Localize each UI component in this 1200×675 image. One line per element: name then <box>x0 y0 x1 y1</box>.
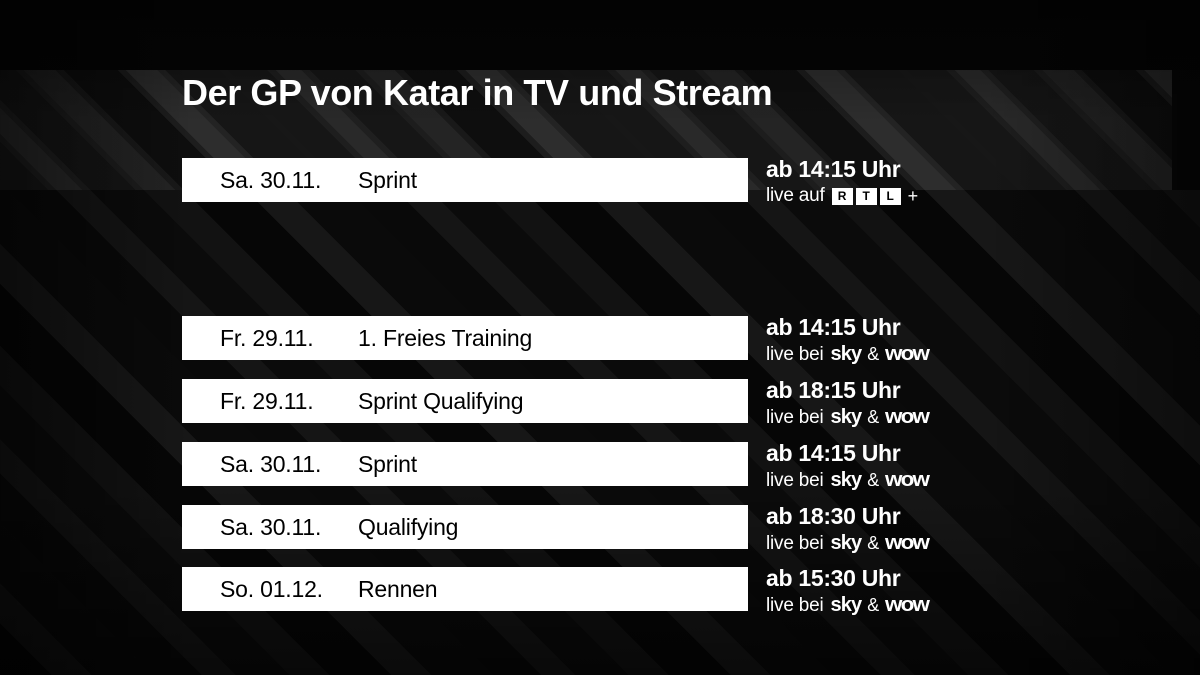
ampersand-separator: & <box>867 407 879 428</box>
broadcast-channel-line: live aufRTL+ <box>766 185 918 207</box>
session-bar: Sa. 30.11.Sprint <box>182 442 748 486</box>
schedule-row: So. 01.12.Rennenab 15:30 Uhrlive beisky&… <box>0 567 1200 611</box>
broadcast-time: ab 15:30 Uhr <box>766 565 900 592</box>
ampersand-separator: & <box>867 344 879 365</box>
ampersand-separator: & <box>867 595 879 616</box>
session-name: Qualifying <box>358 514 458 541</box>
session-name: Sprint Qualifying <box>358 388 523 415</box>
session-date: Sa. 30.11. <box>220 451 321 478</box>
broadcast-time: ab 14:15 Uhr <box>766 314 900 341</box>
broadcast-info: ab 15:30 Uhrlive beisky&wow <box>766 567 1186 611</box>
sky-logo: sky <box>831 532 862 555</box>
broadcast-channel-line: live beisky&wow <box>766 343 924 366</box>
broadcast-channel-prefix: live bei <box>766 344 824 366</box>
wow-logo: wow <box>885 406 928 429</box>
session-bar: Fr. 29.11.Sprint Qualifying <box>182 379 748 423</box>
broadcast-channel-line: live beisky&wow <box>766 469 924 492</box>
session-name: Sprint <box>358 167 417 194</box>
broadcast-info: ab 14:15 Uhrlive aufRTL+ <box>766 158 1186 202</box>
session-name: Sprint <box>358 451 417 478</box>
broadcast-info: ab 14:15 Uhrlive beisky&wow <box>766 442 1186 486</box>
session-date: Fr. 29.11. <box>220 325 313 352</box>
broadcast-info: ab 18:30 Uhrlive beisky&wow <box>766 505 1186 549</box>
session-date: Fr. 29.11. <box>220 388 313 415</box>
session-date: Sa. 30.11. <box>220 514 321 541</box>
sky-logo: sky <box>831 594 862 617</box>
broadcast-time: ab 14:15 Uhr <box>766 440 900 467</box>
wow-logo: wow <box>885 469 928 492</box>
rtlplus-logo: RTL+ <box>832 187 919 205</box>
broadcast-channel-prefix: live bei <box>766 595 824 617</box>
page-title: Der GP von Katar in TV und Stream <box>182 72 772 114</box>
session-bar: Fr. 29.11.1. Freies Training <box>182 316 748 360</box>
broadcast-info: ab 18:15 Uhrlive beisky&wow <box>766 379 1186 423</box>
schedule-row: Fr. 29.11.Sprint Qualifyingab 18:15 Uhrl… <box>0 379 1200 423</box>
broadcast-channel-line: live beisky&wow <box>766 406 924 429</box>
background-top-cap <box>0 0 1200 70</box>
sky-logo: sky <box>831 343 862 366</box>
ampersand-separator: & <box>867 533 879 554</box>
rtl-letter-box: R <box>832 188 853 205</box>
sky-logo: sky <box>831 469 862 492</box>
sky-logo: sky <box>831 406 862 429</box>
wow-logo: wow <box>885 594 928 617</box>
ampersand-separator: & <box>867 470 879 491</box>
broadcast-info: ab 14:15 Uhrlive beisky&wow <box>766 316 1186 360</box>
session-bar: Sa. 30.11.Qualifying <box>182 505 748 549</box>
session-name: Rennen <box>358 576 437 603</box>
broadcast-channel-prefix: live bei <box>766 407 824 429</box>
wow-logo: wow <box>885 343 928 366</box>
broadcast-time: ab 18:15 Uhr <box>766 377 900 404</box>
rtl-letter-box: T <box>856 188 877 205</box>
broadcast-time: ab 14:15 Uhr <box>766 156 900 183</box>
session-bar: Sa. 30.11.Sprint <box>182 158 748 202</box>
broadcast-channel-line: live beisky&wow <box>766 532 924 555</box>
session-bar: So. 01.12.Rennen <box>182 567 748 611</box>
broadcast-channel-prefix: live auf <box>766 185 825 207</box>
schedule-row: Fr. 29.11.1. Freies Trainingab 14:15 Uhr… <box>0 316 1200 360</box>
session-date: Sa. 30.11. <box>220 167 321 194</box>
broadcast-time: ab 18:30 Uhr <box>766 503 900 530</box>
broadcast-schedule-graphic: Der GP von Katar in TV und Stream Sa. 30… <box>0 0 1200 675</box>
schedule-row: Sa. 30.11.Qualifyingab 18:30 Uhrlive bei… <box>0 505 1200 549</box>
rtl-letter-box: L <box>880 188 901 205</box>
session-name: 1. Freies Training <box>358 325 532 352</box>
schedule-row: Sa. 30.11.Sprintab 14:15 Uhrlive beisky&… <box>0 442 1200 486</box>
broadcast-channel-line: live beisky&wow <box>766 594 924 617</box>
broadcast-channel-prefix: live bei <box>766 533 824 555</box>
schedule-row: Sa. 30.11.Sprintab 14:15 Uhrlive aufRTL+ <box>0 158 1200 202</box>
wow-logo: wow <box>885 532 928 555</box>
rtl-plus-symbol: + <box>908 187 919 205</box>
session-date: So. 01.12. <box>220 576 323 603</box>
broadcast-channel-prefix: live bei <box>766 470 824 492</box>
